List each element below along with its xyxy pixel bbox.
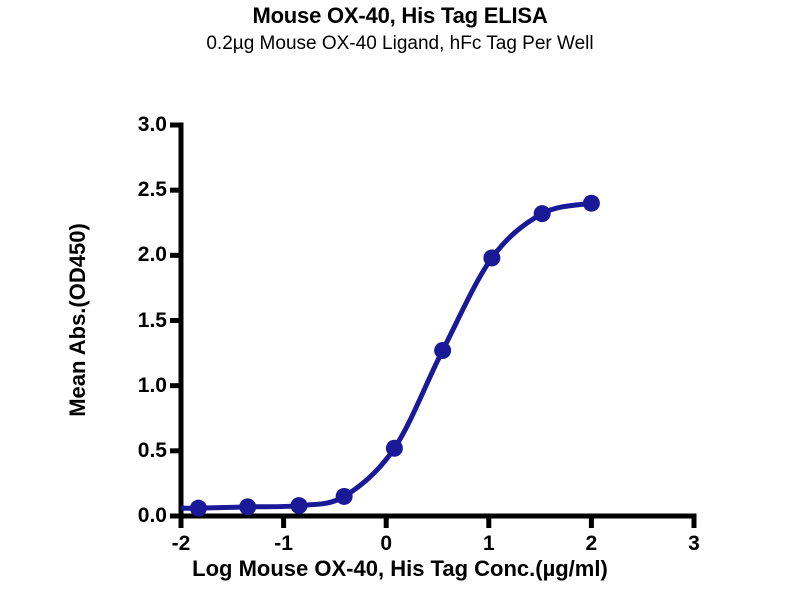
y-axis-tick-label: 2.5 — [105, 178, 167, 202]
axes-group — [170, 125, 694, 528]
x-axis-tick-label: -2 — [172, 532, 191, 556]
y-axis-tick-label: 0.0 — [105, 504, 167, 528]
data-point-marker — [336, 488, 353, 505]
x-axis-tick-label: 3 — [688, 532, 700, 556]
x-axis-tick-label: 2 — [586, 532, 598, 556]
data-point-marker — [190, 500, 207, 517]
dose-response-curve — [183, 203, 591, 508]
x-axis-title: Log Mouse OX-40, His Tag Conc.(µg/ml) — [0, 556, 800, 582]
x-axis-tick-label: 1 — [483, 532, 495, 556]
data-point-markers — [190, 195, 600, 517]
data-point-marker — [583, 195, 600, 212]
y-axis-tick-label: 1.0 — [105, 374, 167, 398]
x-axis-tick-label: -1 — [274, 532, 293, 556]
data-point-marker — [290, 497, 307, 514]
data-point-marker — [386, 440, 403, 457]
y-axis-tick-label: 0.5 — [105, 439, 167, 463]
data-point-marker — [534, 205, 551, 222]
y-axis-tick-label: 2.0 — [105, 243, 167, 267]
y-axis-tick-label: 3.0 — [105, 113, 167, 137]
data-point-marker — [483, 249, 500, 266]
data-point-marker — [434, 342, 451, 359]
data-point-marker — [239, 498, 256, 515]
y-axis-title: Mean Abs.(OD450) — [65, 223, 91, 417]
data-series-group — [183, 195, 600, 517]
x-axis-tick-label: 0 — [380, 532, 392, 556]
elisa-chart-figure: Mouse OX-40, His Tag ELISA 0.2µg Mouse O… — [0, 0, 800, 600]
y-axis-tick-label: 1.5 — [105, 309, 167, 333]
